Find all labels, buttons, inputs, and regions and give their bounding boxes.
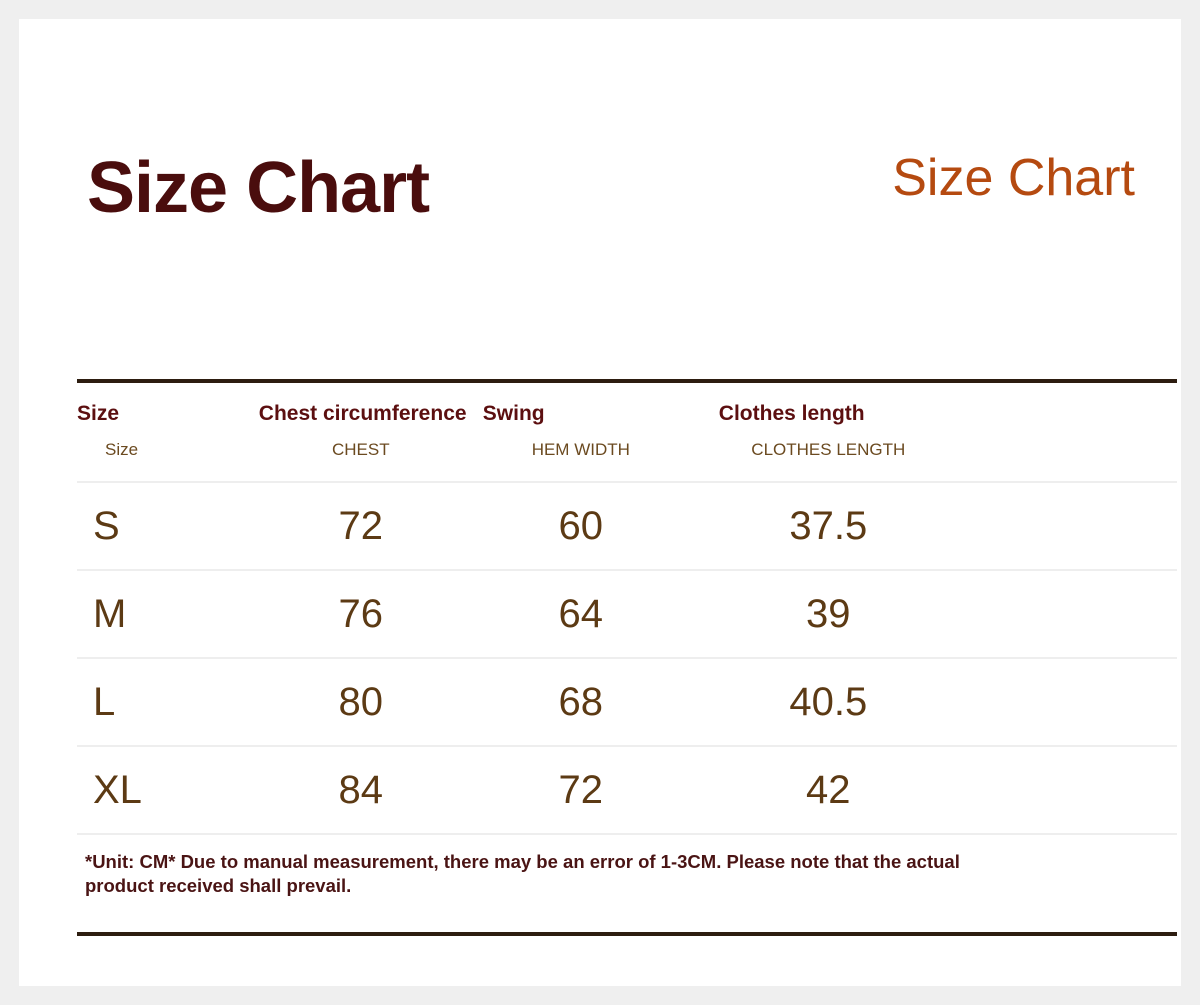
column-header-chest: Chest circumference CHEST — [251, 383, 471, 482]
cell-spacer — [966, 746, 1177, 834]
size-table-container: Size Size Chest circumference CHEST Swin… — [77, 379, 1177, 835]
cell-size: M — [77, 570, 251, 658]
size-chart-card: Size Chart Size Chart Size Size — [19, 19, 1181, 986]
cell-hem-width: 60 — [471, 482, 691, 570]
column-header-size-primary: Size — [77, 403, 119, 424]
table-row: S 72 60 37.5 — [77, 482, 1177, 570]
cell-clothes-length: 37.5 — [691, 482, 966, 570]
table-header-row: Size Size Chest circumference CHEST Swin… — [77, 383, 1177, 482]
column-header-hem-width-primary: Swing — [483, 403, 545, 424]
size-table: Size Size Chest circumference CHEST Swin… — [77, 383, 1177, 835]
column-header-hem-width: Swing HEM WIDTH — [471, 383, 691, 482]
cell-clothes-length: 39 — [691, 570, 966, 658]
column-header-chest-primary: Chest circumference — [259, 403, 467, 424]
table-row: L 80 68 40.5 — [77, 658, 1177, 746]
cell-hem-width: 64 — [471, 570, 691, 658]
cell-hem-width: 72 — [471, 746, 691, 834]
column-header-clothes-length: Clothes length CLOTHES LENGTH — [691, 383, 966, 482]
measurement-disclaimer: *Unit: CM* Due to manual measurement, th… — [85, 850, 985, 899]
cell-clothes-length: 40.5 — [691, 658, 966, 746]
cell-chest: 84 — [251, 746, 471, 834]
column-header-clothes-length-secondary: CLOTHES LENGTH — [691, 441, 966, 458]
column-header-size-secondary: Size — [77, 441, 279, 458]
cell-size: L — [77, 658, 251, 746]
column-header-clothes-length-primary: Clothes length — [719, 403, 865, 424]
cell-hem-width: 68 — [471, 658, 691, 746]
table-row: M 76 64 39 — [77, 570, 1177, 658]
cell-spacer — [966, 658, 1177, 746]
cell-spacer — [966, 570, 1177, 658]
column-header-size: Size Size — [77, 383, 251, 482]
cell-size: XL — [77, 746, 251, 834]
cell-chest: 76 — [251, 570, 471, 658]
cell-chest: 72 — [251, 482, 471, 570]
cell-spacer — [966, 482, 1177, 570]
cell-size: S — [77, 482, 251, 570]
column-header-hem-width-secondary: HEM WIDTH — [471, 441, 691, 458]
column-header-spacer — [966, 383, 1177, 482]
table-bottom-rule — [77, 932, 1177, 936]
page-title: Size Chart — [87, 152, 429, 224]
table-header: Size Size Chest circumference CHEST Swin… — [77, 383, 1177, 482]
secondary-title: Size Chart — [892, 152, 1135, 204]
table-body: S 72 60 37.5 M 76 64 39 L 80 68 — [77, 482, 1177, 834]
cell-chest: 80 — [251, 658, 471, 746]
column-header-chest-secondary: CHEST — [251, 441, 471, 458]
cell-clothes-length: 42 — [691, 746, 966, 834]
table-row: XL 84 72 42 — [77, 746, 1177, 834]
